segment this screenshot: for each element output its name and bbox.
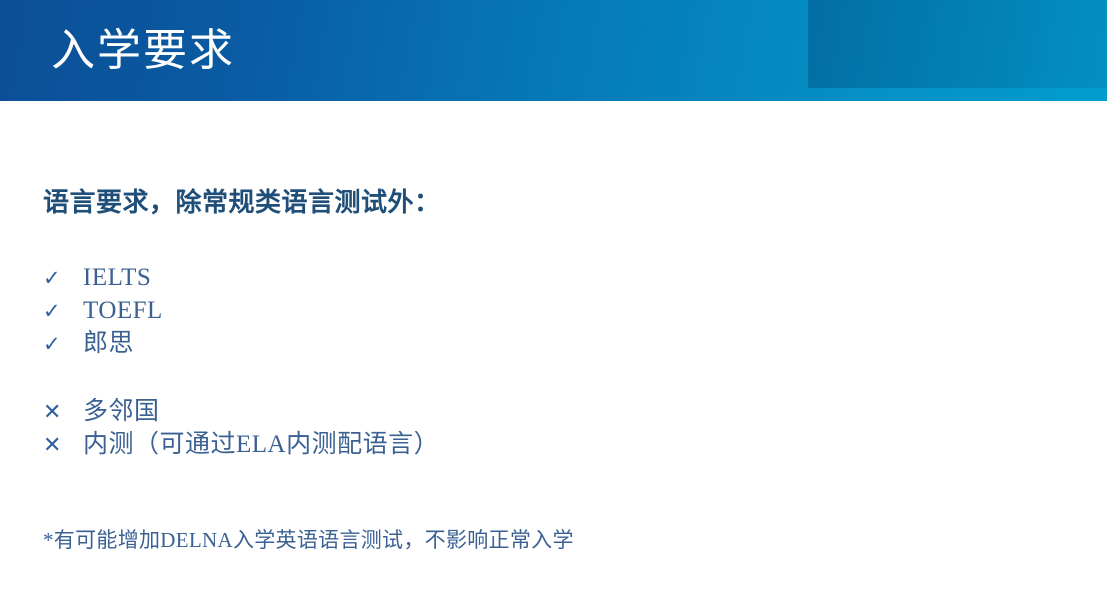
section-heading: 语言要求，除常规类语言测试外： [43,186,441,220]
rejected-tests-list: ✕ 多邻国 ✕ 内测（可通过ELA内测配语言） [43,395,439,461]
check-icon: ✓ [43,299,83,323]
cross-icon: ✕ [43,433,83,458]
banner-accent-block [808,0,1107,88]
check-icon: ✓ [43,266,83,290]
list-item-label: IELTS [83,261,151,294]
slide: 入学要求 语言要求，除常规类语言测试外： ✓ IELTS ✓ TOEFL ✓ 郎… [0,0,1107,607]
check-icon: ✓ [43,332,83,356]
list-item: ✓ IELTS [43,261,163,294]
list-item: ✕ 多邻国 [43,395,439,428]
list-item-label: 郎思 [83,327,134,360]
page-title: 入学要求 [51,22,235,80]
list-item: ✓ TOEFL [43,294,163,327]
cross-icon: ✕ [43,400,83,425]
accepted-tests-list: ✓ IELTS ✓ TOEFL ✓ 郎思 [43,261,163,360]
list-item: ✓ 郎思 [43,327,163,360]
slide-body: 语言要求，除常规类语言测试外： ✓ IELTS ✓ TOEFL ✓ 郎思 ✕ 多… [0,101,1107,607]
list-item-label: 多邻国 [83,395,160,428]
title-banner: 入学要求 [0,0,1107,101]
footnote: *有可能增加DELNA入学英语语言测试，不影响正常入学 [43,526,574,554]
list-item: ✕ 内测（可通过ELA内测配语言） [43,428,439,461]
list-item-label: TOEFL [83,294,163,327]
list-item-label: 内测（可通过ELA内测配语言） [83,428,439,461]
